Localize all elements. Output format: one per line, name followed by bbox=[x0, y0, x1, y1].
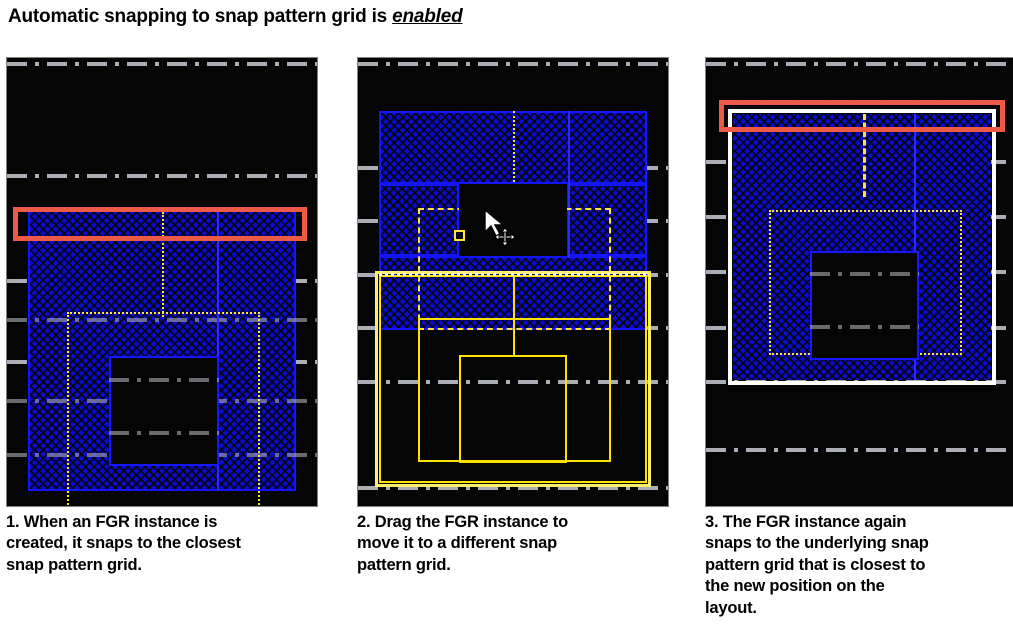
drag-bounding-box bbox=[375, 271, 651, 487]
fgr-core-region bbox=[109, 356, 219, 466]
caption-line: 3. The FGR instance again bbox=[705, 512, 1013, 533]
caption-line: pattern grid that is closest to bbox=[705, 555, 1013, 576]
panel-3-caption: 3. The FGR instance again snaps to the u… bbox=[705, 512, 1013, 619]
caption-line: created, it snaps to the closest bbox=[6, 533, 324, 554]
caption-line: move it to a different snap bbox=[357, 533, 675, 554]
fgr-core-region bbox=[810, 251, 919, 360]
caption-line: pattern grid. bbox=[357, 555, 675, 576]
panel-1-caption: 1. When an FGR instance is created, it s… bbox=[6, 512, 324, 576]
snap-row-line bbox=[706, 62, 1013, 66]
caption-line: 2. Drag the FGR instance to bbox=[357, 512, 675, 533]
layout-canvas-panel-3[interactable] bbox=[705, 57, 1013, 507]
layout-canvas-panel-1[interactable] bbox=[6, 57, 318, 507]
snap-row-line bbox=[7, 62, 317, 66]
mouse-cursor-icon bbox=[483, 208, 517, 252]
snap-row-line bbox=[358, 62, 668, 66]
figure-root: Automatic snapping to snap pattern grid … bbox=[0, 0, 1013, 642]
figure-title-prefix: Automatic snapping to snap pattern grid … bbox=[8, 6, 392, 27]
caption-line: the new position on the bbox=[705, 576, 1013, 597]
highlight-rectangle bbox=[13, 207, 307, 241]
figure-title-emphasis: enabled bbox=[392, 6, 462, 27]
panel-2-caption: 2. Drag the FGR instance to move it to a… bbox=[357, 512, 675, 576]
drag-handle-marker[interactable] bbox=[454, 230, 465, 241]
snap-row-line bbox=[706, 448, 1013, 452]
snap-row-line bbox=[7, 174, 317, 178]
caption-line: layout. bbox=[705, 598, 1013, 619]
snap-edge-indicator bbox=[379, 273, 647, 276]
highlight-rectangle bbox=[719, 100, 1005, 132]
layout-canvas-panel-2[interactable] bbox=[357, 57, 669, 507]
caption-line: 1. When an FGR instance is bbox=[6, 512, 324, 533]
figure-title: Automatic snapping to snap pattern grid … bbox=[8, 6, 463, 28]
caption-line: snaps to the underlying snap bbox=[705, 533, 1013, 554]
guide-center-line bbox=[513, 111, 515, 194]
caption-line: snap pattern grid. bbox=[6, 555, 324, 576]
